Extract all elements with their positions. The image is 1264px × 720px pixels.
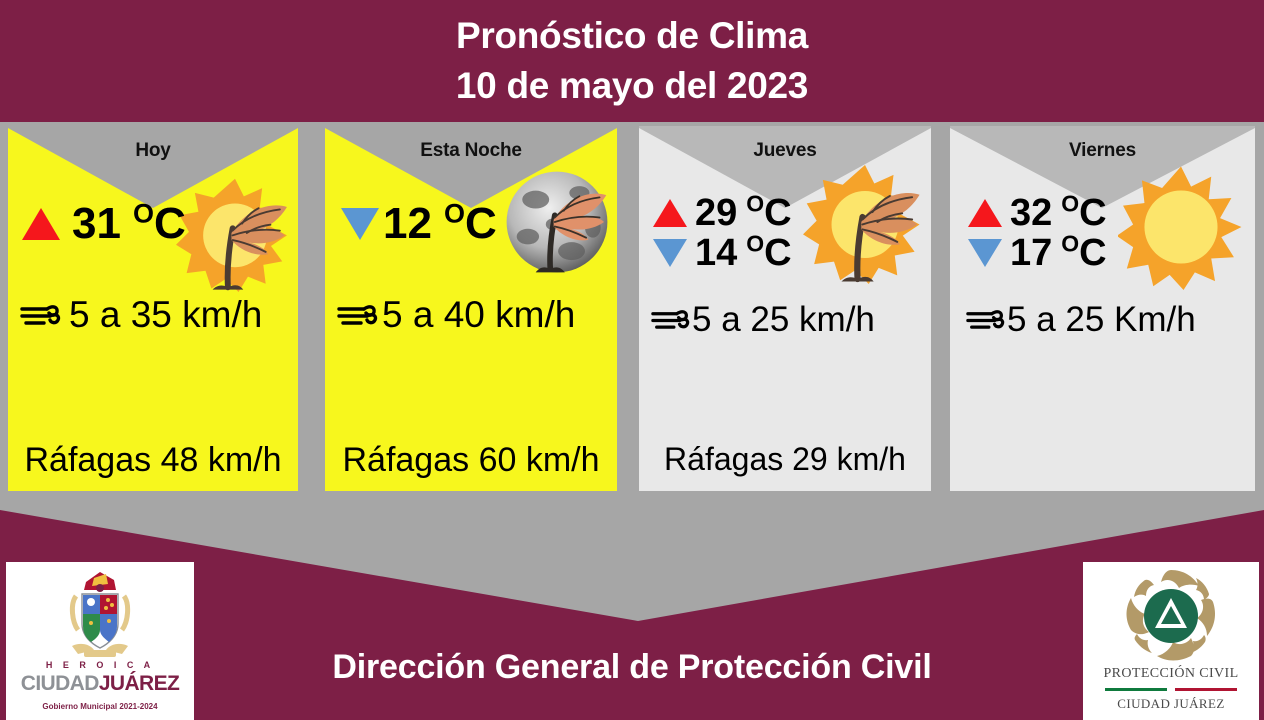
- temp-row-low: 14 OC: [653, 234, 792, 272]
- temp-low-value: 14: [695, 234, 737, 272]
- wind-speed-text: 5 a 40 km/h: [382, 296, 575, 333]
- coat-of-arms-icon: [64, 568, 136, 662]
- logo-heroica-text: H E R O I C A: [6, 660, 194, 670]
- sun-icon: [1118, 164, 1244, 290]
- arrow-down-icon: [341, 208, 379, 240]
- card-day-label: Hoy: [8, 140, 298, 162]
- card-wind: 5 a 25 Km/h: [966, 302, 1196, 337]
- temp-high-value: 32: [1010, 194, 1052, 232]
- card-day-label: Esta Noche: [325, 140, 617, 162]
- page-title: Pronóstico de Clima: [0, 14, 1264, 58]
- logo-ciudad-juarez-text: CIUDADJUÁREZ: [6, 672, 194, 696]
- temp-low-value: 12: [383, 202, 432, 246]
- weather-forecast-graphic: Pronóstico de Clima 10 de mayo del 2023 …: [0, 0, 1264, 720]
- temp-low-unit: OC: [1061, 234, 1106, 272]
- card-wind: 5 a 40 km/h: [337, 296, 575, 333]
- forecast-card-hoy[interactable]: Hoy: [8, 126, 298, 491]
- temp-row-low: 12 OC: [341, 202, 497, 246]
- forecast-date: 10 de mayo del 2023: [0, 64, 1264, 108]
- logo-proteccion-civil-text: PROTECCIÓN CIVIL: [1083, 666, 1259, 682]
- wind-icon: [20, 300, 62, 330]
- card-temperatures: 31 OC: [22, 202, 186, 246]
- logo-gobierno-text: Gobierno Municipal 2021-2024: [6, 702, 194, 711]
- card-temperatures: 29 OC 14 OC: [653, 194, 792, 272]
- logo-rule-green: [1105, 688, 1167, 691]
- card-day-label: Viernes: [950, 140, 1255, 162]
- temp-low-unit: OC: [444, 202, 497, 246]
- temp-high-unit: OC: [1061, 194, 1106, 232]
- logo-ciudad-juarez-text: CIUDAD JUÁREZ: [1083, 696, 1259, 712]
- card-temperatures: 32 OC 17 OC: [968, 194, 1107, 272]
- wind-speed-text: 5 a 25 km/h: [692, 302, 875, 337]
- temp-low-unit: OC: [746, 234, 791, 272]
- wind-speed-text: 5 a 25 Km/h: [1007, 302, 1196, 337]
- temp-high-value: 29: [695, 194, 737, 232]
- forecast-cards-row: Hoy: [0, 122, 1264, 494]
- proteccion-civil-emblem-icon: [1121, 568, 1221, 664]
- temp-low-value: 17: [1010, 234, 1052, 272]
- temp-high-unit: OC: [133, 202, 186, 246]
- temp-row-low: 17 OC: [968, 234, 1107, 272]
- temp-row-high: 32 OC: [968, 194, 1107, 232]
- proteccion-civil-logo: PROTECCIÓN CIVIL CIUDAD JUÁREZ: [1083, 562, 1259, 720]
- arrow-up-icon: [22, 208, 60, 240]
- card-gust: Ráfagas 48 km/h: [8, 441, 298, 480]
- temp-high-unit: OC: [746, 194, 791, 232]
- card-wind: 5 a 35 km/h: [20, 296, 262, 333]
- card-temperatures: 12 OC: [341, 202, 497, 246]
- forecast-card-esta-noche[interactable]: Esta Noche: [325, 126, 617, 491]
- arrow-up-icon: [968, 199, 1002, 227]
- card-gust: Ráfagas 29 km/h: [639, 441, 931, 478]
- sun-windy-tree-icon: [176, 174, 294, 292]
- card-day-label: Jueves: [639, 140, 931, 162]
- arrow-down-icon: [968, 239, 1002, 267]
- temp-row-high: 31 OC: [22, 202, 186, 246]
- card-wind: 5 a 25 km/h: [651, 302, 875, 337]
- card-gust: Ráfagas 60 km/h: [325, 441, 617, 480]
- wind-speed-text: 5 a 35 km/h: [69, 296, 262, 333]
- arrow-up-icon: [653, 199, 687, 227]
- sun-windy-tree-icon: [803, 160, 927, 284]
- temp-row-high: 29 OC: [653, 194, 792, 232]
- header-banner: Pronóstico de Clima 10 de mayo del 2023: [0, 0, 1264, 122]
- arrow-down-icon: [653, 239, 687, 267]
- temp-high-value: 31: [72, 202, 121, 246]
- wind-icon: [966, 305, 1006, 334]
- forecast-card-viernes[interactable]: Viernes 32 OC 17 OC: [950, 126, 1255, 491]
- header-title-block: Pronóstico de Clima 10 de mayo del 2023: [0, 14, 1264, 107]
- forecast-card-jueves[interactable]: Jueves: [639, 126, 931, 491]
- moon-windy-tree-icon: [501, 166, 613, 278]
- wind-icon: [651, 305, 691, 334]
- logo-rule-red: [1175, 688, 1237, 691]
- heroica-ciudad-juarez-logo: H E R O I C A CIUDADJUÁREZ Gobierno Muni…: [6, 562, 194, 720]
- wind-icon: [337, 300, 379, 330]
